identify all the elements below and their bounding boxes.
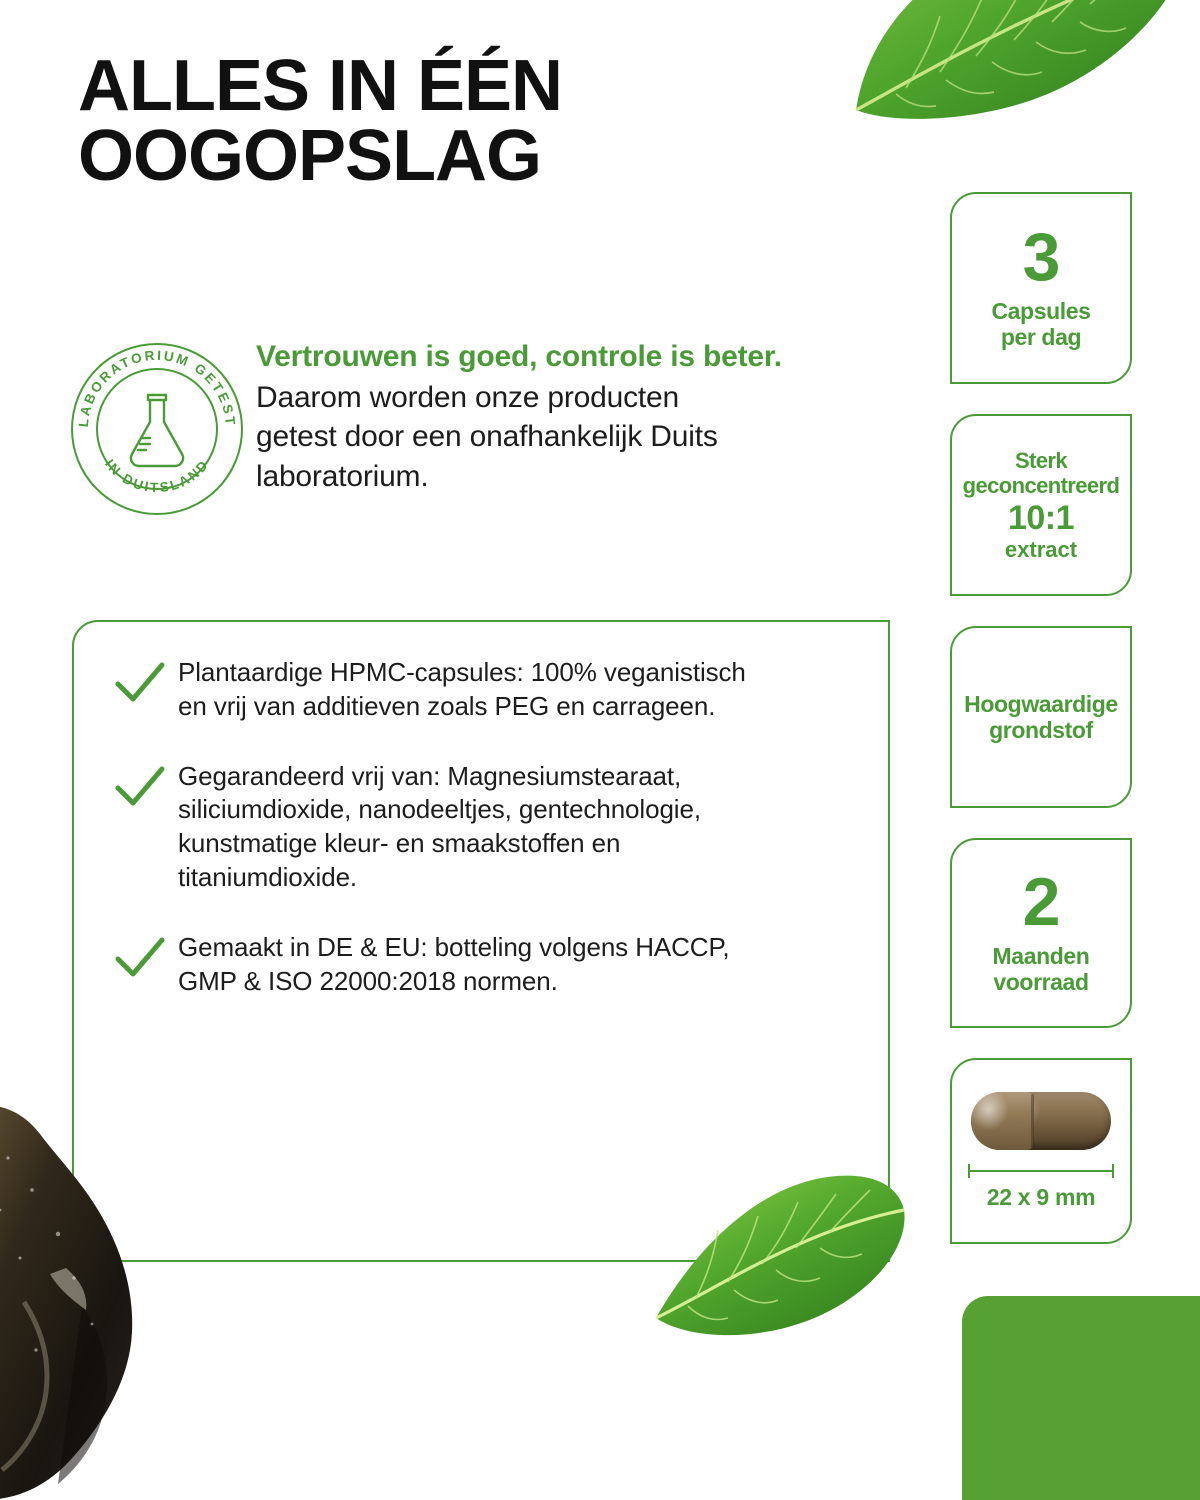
extract-sublabel: extract — [1005, 537, 1077, 562]
check-icon — [114, 758, 178, 810]
page-title: ALLES IN ÉÉN OOGOPSLAG — [78, 52, 838, 192]
check-icon — [114, 929, 178, 981]
intro-lead: Vertrouwen is goed, controle is beter. — [256, 338, 936, 376]
list-item: Gegarandeerd vrij van: Magnesiumstearaat… — [114, 758, 866, 895]
infographic-canvas: ALLES IN ÉÉN OOGOPSLAG LABORATORIUM GETE… — [0, 0, 1200, 1500]
extract-ratio: 10:1 — [1008, 500, 1074, 537]
capsules-count: 3 — [1023, 225, 1060, 290]
supply-count: 2 — [1023, 870, 1060, 935]
card-extract-ratio: Sterk geconcentreerd 10:1 extract — [950, 414, 1132, 596]
dimension-bar — [968, 1164, 1114, 1178]
capsule-photo — [971, 1092, 1111, 1150]
card-capsules-per-day: 3 Capsules per dag — [950, 192, 1132, 384]
card-months-supply: 2 Maanden voorraad — [950, 838, 1132, 1028]
shilajit-resin-icon — [0, 1092, 192, 1500]
supply-label: Maanden voorraad — [993, 943, 1090, 995]
leaf-icon-top — [836, 0, 1196, 132]
capsule-size-illustration: 22 x 9 mm — [968, 1092, 1114, 1211]
list-item: Gemaakt in DE & EU: botteling volgens HA… — [114, 929, 866, 999]
capsule-dimensions: 22 x 9 mm — [987, 1184, 1096, 1211]
list-item: Plantaardige HPMC-capsules: 100% veganis… — [114, 654, 866, 724]
capsules-label: Capsules per dag — [991, 298, 1090, 350]
quality-label: Hoogwaardige grondstof — [964, 691, 1118, 743]
spec-cards: 3 Capsules per dag Sterk geconcentreerd … — [950, 192, 1132, 1274]
card-raw-material-quality: Hoogwaardige grondstof — [950, 626, 1132, 808]
intro-body: Daarom worden onze producten getest door… — [256, 378, 936, 497]
feature-text: Gegarandeerd vrij van: Magnesiumstearaat… — [178, 758, 701, 895]
lab-tested-badge: LABORATORIUM GETEST IN DUITSLAND — [68, 340, 246, 518]
feature-text: Gemaakt in DE & EU: botteling volgens HA… — [178, 929, 730, 999]
extract-heading: Sterk geconcentreerd — [963, 448, 1120, 498]
green-accent-block — [962, 1296, 1200, 1500]
card-capsule-size: 22 x 9 mm — [950, 1058, 1132, 1244]
intro-block: Vertrouwen is goed, controle is beter. D… — [256, 338, 936, 497]
feature-text: Plantaardige HPMC-capsules: 100% veganis… — [178, 654, 746, 724]
check-icon — [114, 654, 178, 706]
features-list: Plantaardige HPMC-capsules: 100% veganis… — [114, 654, 866, 998]
leaf-icon-bottom — [652, 1158, 912, 1348]
svg-text:IN DUITSLAND: IN DUITSLAND — [102, 456, 212, 495]
svg-text:LABORATORIUM GETEST: LABORATORIUM GETEST — [76, 348, 238, 428]
